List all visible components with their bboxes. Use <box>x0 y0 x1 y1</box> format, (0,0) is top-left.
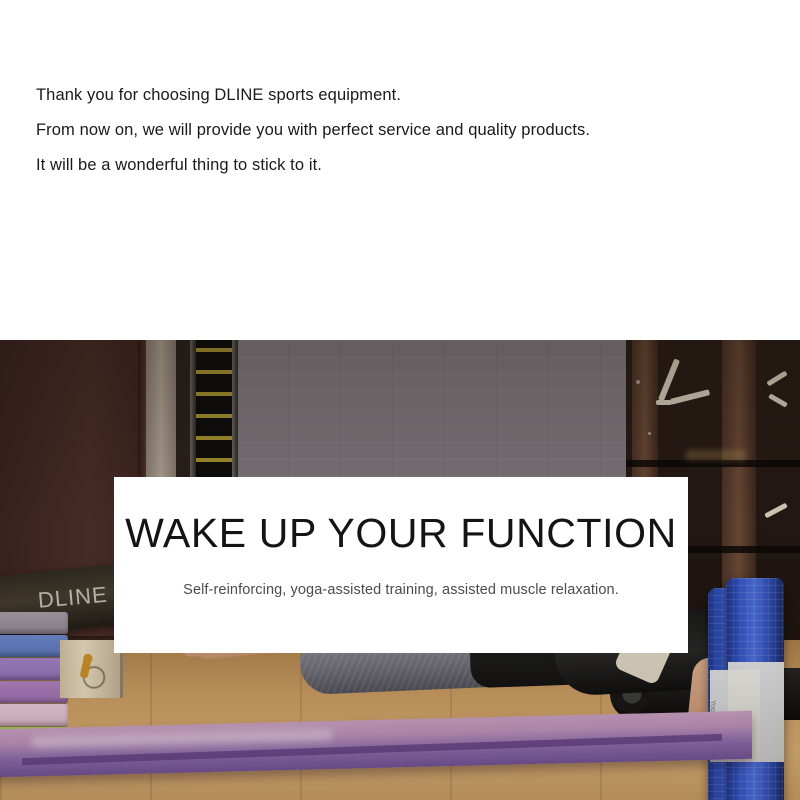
intro-line-3: It will be a wonderful thing to stick to… <box>36 148 766 183</box>
brick-wall-background <box>236 340 626 492</box>
dline-brand-text: DLINE <box>37 582 109 614</box>
intro-copy-block: Thank you for choosing DLINE sports equi… <box>36 78 766 183</box>
wall-ladder-rack-left <box>190 340 238 490</box>
intro-line-2: From now on, we will provide you with pe… <box>36 113 766 148</box>
hero-subheadline: Self-reinforcing, yoga-assisted training… <box>114 582 688 598</box>
yoga-block <box>0 658 68 680</box>
yoga-block <box>0 635 68 657</box>
hero-headline-card: WAKE UP YOUR FUNCTION Self-reinforcing, … <box>114 477 688 653</box>
hero-headline: WAKE UP YOUR FUNCTION <box>114 513 688 554</box>
intro-line-1: Thank you for choosing DLINE sports equi… <box>36 78 766 113</box>
wooden-pillar <box>146 340 176 500</box>
yoga-block <box>0 704 68 726</box>
yoga-block <box>0 681 68 703</box>
product-detail-page: Thank you for choosing DLINE sports equi… <box>0 0 800 800</box>
yoga-block <box>0 612 68 634</box>
